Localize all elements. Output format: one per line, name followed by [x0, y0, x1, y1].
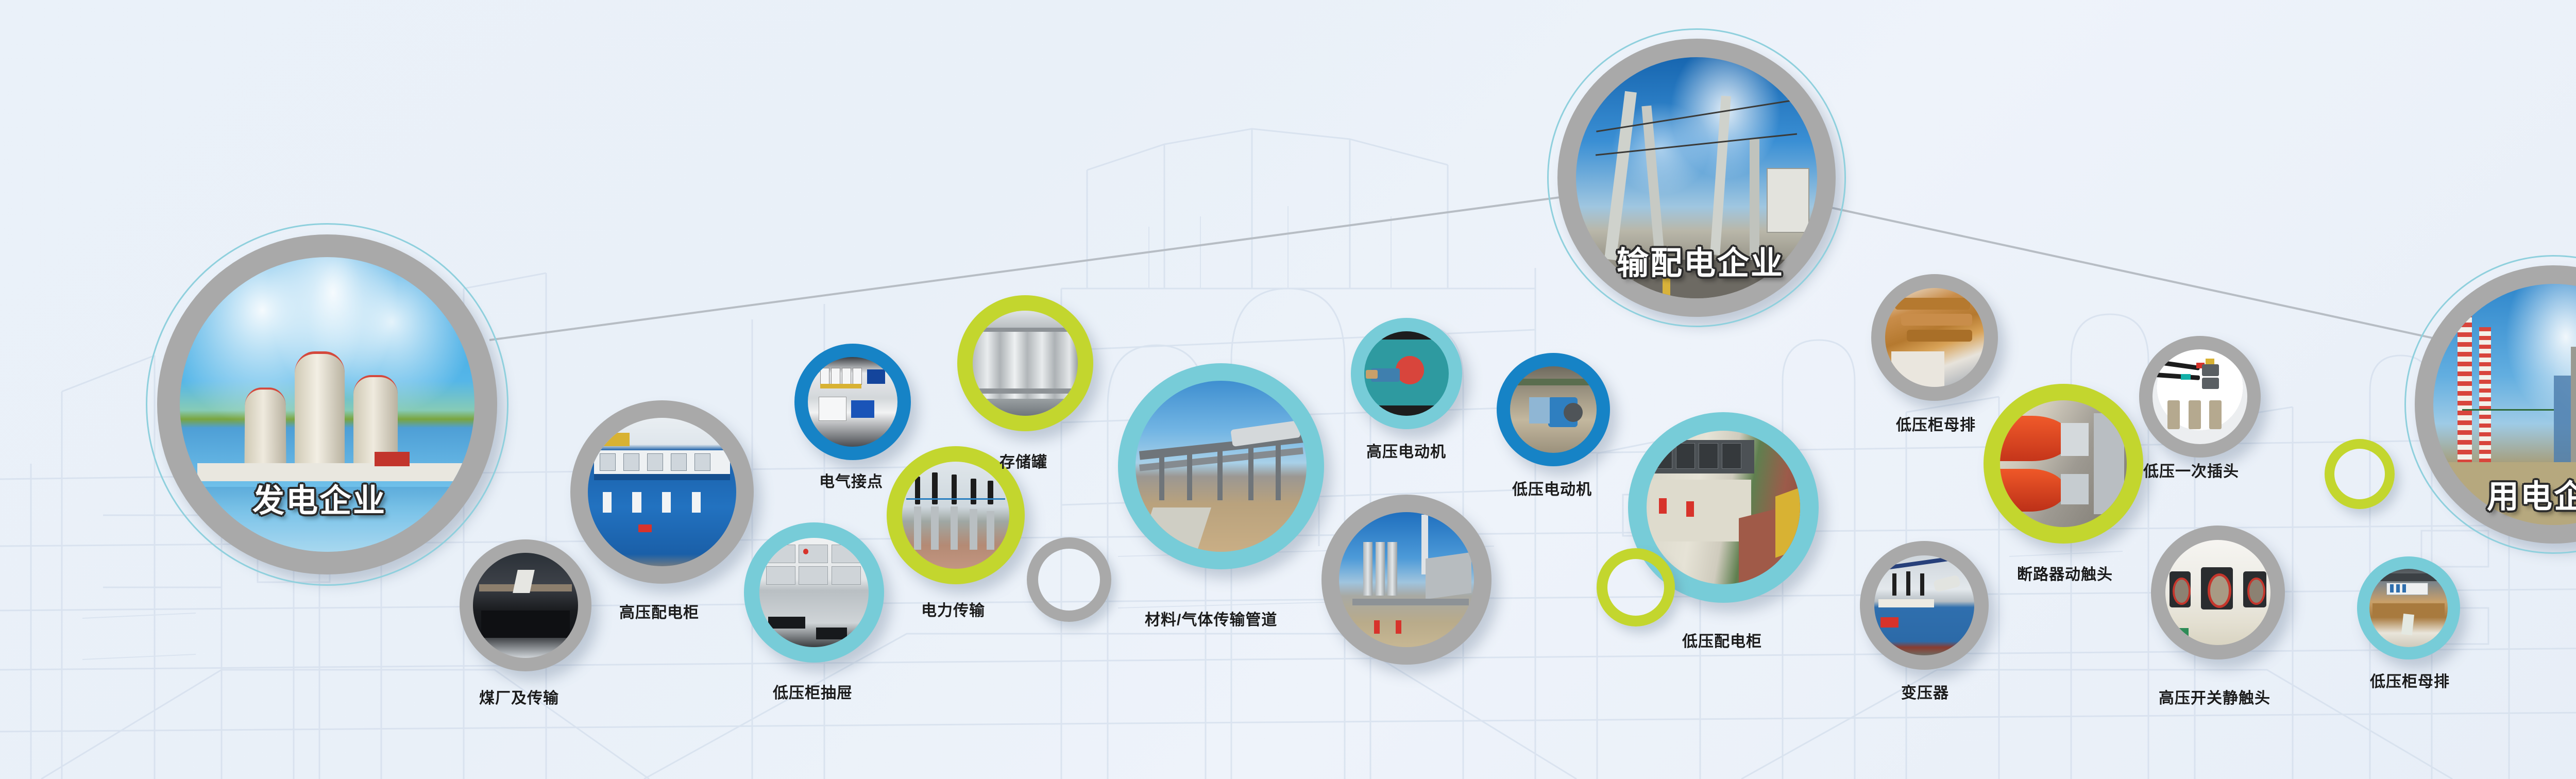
photo-substation-insulators-yard: [902, 462, 1009, 569]
label-lv-cabinet-busbar-top: 低压柜母排: [1896, 412, 1976, 435]
photo-lv-distribution-panel-room: [1647, 431, 1800, 584]
photo-hv-motor-pump-green: [1364, 331, 1449, 416]
photo-breaker-terminal-wiring: [808, 357, 897, 447]
photo-silver-storage-tanks: [973, 311, 1078, 416]
label-lv-motor: 低压电动机: [1512, 477, 1592, 499]
accent-ring-lime: [1597, 548, 1675, 626]
label-breaker-moving-contact: 断路器动触头: [2017, 562, 2113, 584]
photo-red-breaker-moving-contact: [2000, 400, 2127, 527]
label-lv-distribution-panel: 低压配电柜: [1682, 629, 1762, 651]
label-lv-cabinet-busbar-bottom: 低压柜母排: [2370, 669, 2450, 691]
photo-lv-cabinet-drawer-unit: [759, 538, 869, 647]
photo-copper-busbar-closeup: [1885, 288, 1984, 387]
hero-label-power-consumption: 用电企业: [2487, 470, 2576, 517]
photo-coal-conveyor-belt: [473, 553, 578, 658]
photo-oil-transformer-blue: [1874, 555, 1974, 655]
hero-node-transmission-distribution[interactable]: 输配电企业: [1557, 39, 1836, 317]
label-transformer: 变压器: [1901, 680, 1949, 703]
label-hv-switch-static-contact: 高压开关静触头: [2159, 685, 2270, 708]
photo-chemical-plant-stack: [1339, 512, 1474, 647]
label-hv-motor: 高压电动机: [1366, 439, 1446, 462]
label-electrical-contacts: 电气接点: [819, 469, 883, 492]
hero-label-power-generation: 发电企业: [252, 475, 386, 521]
label-material-gas-pipeline: 材料/气体传输管道: [1145, 607, 1277, 630]
label-storage-tank: 存储罐: [999, 449, 1047, 472]
accent-ring-grey: [1027, 537, 1111, 622]
label-coal-plant-transport: 煤厂及传输: [479, 685, 559, 708]
hero-label-transmission-distribution: 输配电企业: [1617, 237, 1784, 283]
label-power-transmission: 电力传输: [921, 598, 985, 620]
photo-pipe-rack-corridor: [1136, 381, 1307, 552]
label-lv-cabinet-drawer: 低压柜抽屉: [773, 680, 853, 703]
infographic-canvas: 发电企业 输配电企业 用电企业: [0, 0, 2576, 779]
hero-node-power-consumption[interactable]: 用电企业: [2415, 265, 2576, 544]
accent-ring-lime-2: [2325, 439, 2395, 509]
photo-blue-hv-switchgear-row: [588, 418, 736, 566]
photo-lv-busbar-breaker-rail: [2369, 569, 2448, 647]
label-lv-primary-plug: 低压一次插头: [2143, 459, 2239, 481]
photo-lv-primary-plug-terminals: [2153, 349, 2247, 444]
photo-lv-motor-blue: [1510, 366, 1597, 453]
label-hv-switchgear-cabinet: 高压配电柜: [619, 600, 699, 622]
photo-hv-switch-static-contact: [2165, 540, 2270, 645]
hero-node-power-generation[interactable]: 发电企业: [157, 234, 497, 574]
